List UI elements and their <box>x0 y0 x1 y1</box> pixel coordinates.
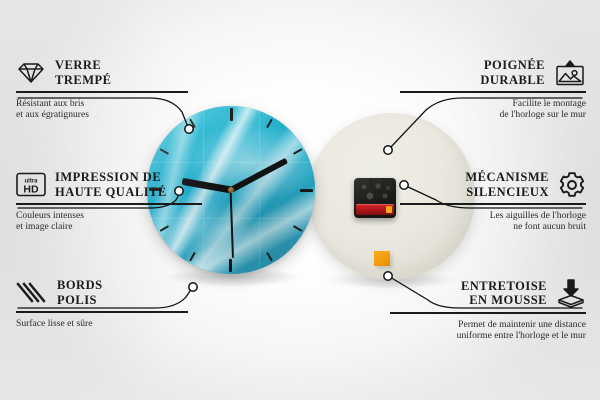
callout-head: BORDSPOLIS <box>16 278 188 307</box>
callout-head: VERRETREMPÉ <box>16 58 188 87</box>
callout-title-line1: MÉCANISME <box>465 170 549 184</box>
callout-title-line1: POIGNÉE <box>484 58 545 72</box>
ultra-hd-icon: ultra HD <box>16 172 46 197</box>
foam-spacer <box>374 251 390 266</box>
callout-head: ENTRETOISEEN MOUSSE <box>390 278 586 308</box>
callout-title: VERRETREMPÉ <box>55 58 111 87</box>
callout-bords-polis[interactable]: BORDSPOLIS Surface lisse et sûre <box>16 278 188 329</box>
callout-title-line2: POLIS <box>57 293 97 307</box>
callout-head: MÉCANISMESILENCIEUX <box>400 170 586 199</box>
callout-description: Surface lisse et sûre <box>16 318 188 329</box>
quartz-mechanism <box>354 178 396 218</box>
callout-title-line2: HAUTE QUALITÉ <box>55 185 167 199</box>
callout-head: POIGNÉEDURABLE <box>400 58 586 87</box>
callout-rule <box>400 203 586 205</box>
callout-description: Facilite le montage de l'horloge sur le … <box>400 98 586 121</box>
hanging-frame-icon <box>554 60 586 86</box>
callout-title-line1: BORDS <box>57 278 103 292</box>
callout-verre-trempe[interactable]: VERRETREMPÉ Résistant aux bris et aux ég… <box>16 58 188 120</box>
callout-impression-haute-qualite[interactable]: ultra HD IMPRESSION DEHAUTE QUALITÉ Coul… <box>16 170 202 232</box>
callout-rule <box>16 311 188 313</box>
foam-spacer-icon <box>556 278 586 308</box>
callout-description: Les aiguilles de l'horloge ne font aucun… <box>400 210 586 233</box>
diamond-icon <box>16 61 46 85</box>
callout-title-line1: ENTRETOISE <box>461 279 547 293</box>
callout-title-line1: IMPRESSION DE <box>55 170 161 184</box>
callout-title-line2: TREMPÉ <box>55 73 111 87</box>
callout-poignee-durable[interactable]: POIGNÉEDURABLE Facilite le montage de l'… <box>400 58 586 120</box>
callout-title-line1: VERRE <box>55 58 101 72</box>
callout-title: IMPRESSION DEHAUTE QUALITÉ <box>55 170 167 199</box>
gear-icon <box>558 171 586 199</box>
polished-edges-icon <box>16 281 48 305</box>
callout-title: ENTRETOISEEN MOUSSE <box>461 279 547 308</box>
callout-head: ultra HD IMPRESSION DEHAUTE QUALITÉ <box>16 170 202 199</box>
callout-title: BORDSPOLIS <box>57 278 103 307</box>
callout-description: Résistant aux bris et aux égratignures <box>16 98 188 121</box>
callout-entretoise-en-mousse[interactable]: ENTRETOISEEN MOUSSE Permet de maintenir … <box>390 278 586 341</box>
callout-rule <box>16 203 202 205</box>
callout-title-line2: EN MOUSSE <box>469 293 547 307</box>
callout-rule <box>16 91 188 93</box>
callout-description: Couleurs intenses et image claire <box>16 210 202 233</box>
callout-title-line2: DURABLE <box>480 73 545 87</box>
callout-title: MÉCANISMESILENCIEUX <box>465 170 549 199</box>
callout-mecanisme-silencieux[interactable]: MÉCANISMESILENCIEUX Les aiguilles de l'h… <box>400 170 586 232</box>
callout-title: POIGNÉEDURABLE <box>480 58 545 87</box>
callout-rule <box>400 91 586 93</box>
callout-description: Permet de maintenir une distance uniform… <box>390 319 586 342</box>
product-infographic: VERRETREMPÉ Résistant aux bris et aux ég… <box>0 0 600 400</box>
mechanism-detail <box>358 183 392 200</box>
callout-title-line2: SILENCIEUX <box>466 185 549 199</box>
svg-text:HD: HD <box>23 184 39 196</box>
hand-center-cap <box>228 187 234 193</box>
callout-rule <box>390 312 586 314</box>
aa-battery <box>356 204 394 215</box>
